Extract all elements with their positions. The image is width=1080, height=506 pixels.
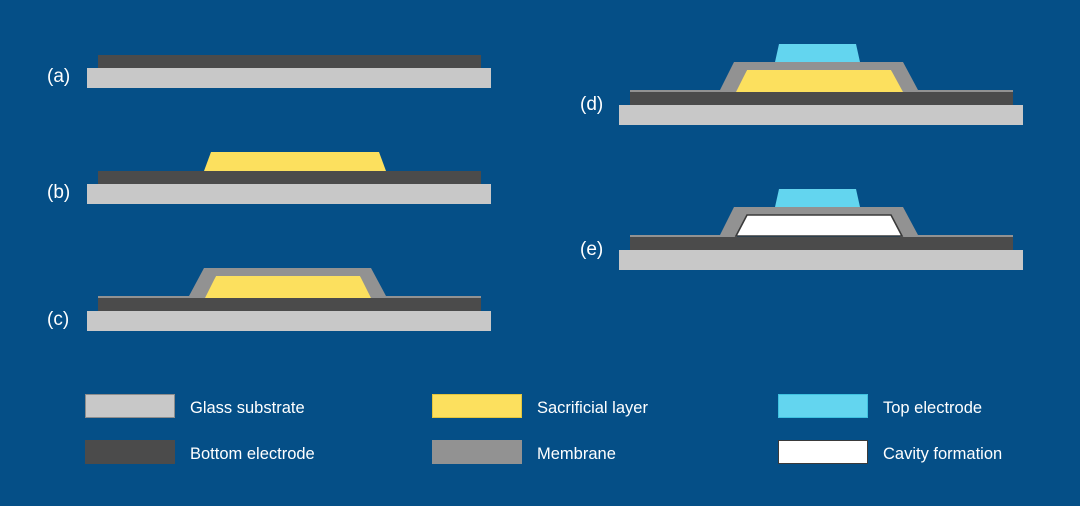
legend-label-cavity-formation: Cavity formation [883, 442, 1002, 466]
panel-a-label: (a) [47, 66, 70, 87]
cavity-formation-swatch [778, 440, 868, 464]
figure-canvas: (a) (b) (c) (d) [0, 0, 1080, 506]
legend-label-bottom-electrode: Bottom electrode [190, 442, 315, 466]
panel-e: (e) [580, 189, 1023, 270]
glass-substrate-swatch [85, 394, 175, 418]
panel-c-bottom-electrode [98, 298, 481, 311]
sacrificial-layer-swatch [432, 394, 522, 418]
panel-b-sacrificial-layer [204, 152, 386, 171]
panel-c-glass-substrate [87, 311, 491, 331]
panel-e-top-electrode [775, 189, 860, 207]
panel-e-cavity-formation [736, 215, 902, 236]
panel-b-glass-substrate [87, 184, 491, 204]
panel-e-glass-substrate [619, 250, 1023, 270]
panel-e-bottom-electrode [630, 237, 1013, 250]
top-electrode-swatch [778, 394, 868, 418]
panel-b-label: (b) [47, 182, 70, 203]
legend-label-top-electrode: Top electrode [883, 396, 982, 420]
panel-e-label: (e) [580, 239, 603, 260]
panel-b-bottom-electrode [98, 171, 481, 184]
panel-a-glass-substrate [87, 68, 491, 88]
panel-b: (b) [47, 152, 491, 204]
legend-label-sacrificial-layer: Sacrificial layer [537, 396, 648, 420]
bottom-electrode-swatch [85, 440, 175, 464]
panel-d-sacrificial-layer [736, 70, 903, 92]
membrane-swatch [432, 440, 522, 464]
panel-c-sacrificial-layer [205, 276, 371, 298]
panel-a-bottom-electrode [98, 55, 481, 68]
panel-a: (a) [47, 55, 491, 88]
panel-d-top-electrode [775, 44, 860, 62]
panel-d-label: (d) [580, 94, 603, 115]
legend-label-membrane: Membrane [537, 442, 616, 466]
panel-d: (d) [580, 44, 1023, 125]
panel-d-glass-substrate [619, 105, 1023, 125]
legend-label-glass-substrate: Glass substrate [190, 396, 305, 420]
panel-c-label: (c) [47, 309, 69, 330]
process-flow-diagram: (a) (b) (c) (d) [0, 0, 1080, 506]
panel-d-bottom-electrode [630, 92, 1013, 105]
panel-c: (c) [47, 268, 491, 331]
